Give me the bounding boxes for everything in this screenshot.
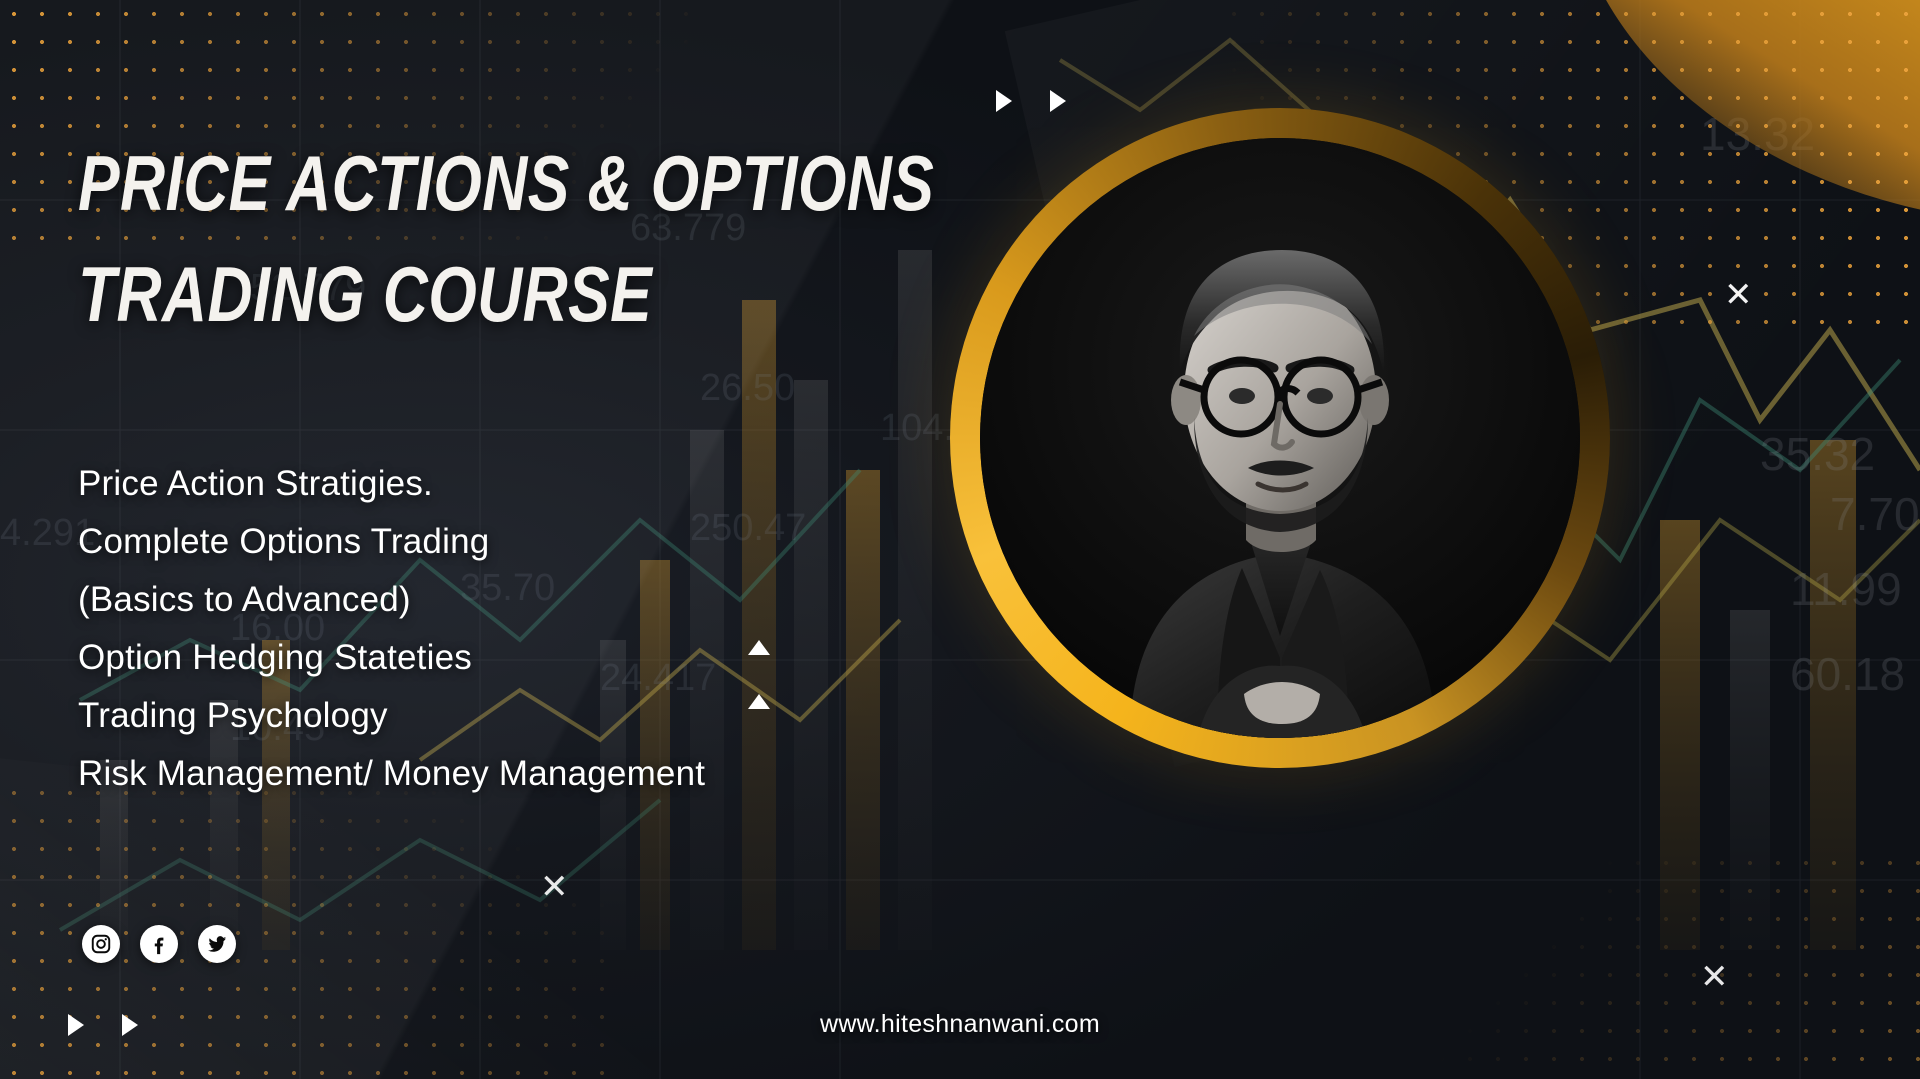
- list-item: Price Action Stratigies.: [78, 455, 978, 513]
- course-feature-list: Price Action Stratigies. Complete Option…: [78, 455, 978, 804]
- page-title: PRICE ACTIONS & OPTIONS TRADING COURSE: [78, 128, 734, 350]
- instagram-icon[interactable]: [82, 925, 120, 963]
- facebook-icon[interactable]: [140, 925, 178, 963]
- instructor-portrait: [950, 108, 1610, 768]
- title-line-1: PRICE ACTIONS & OPTIONS: [78, 128, 734, 239]
- list-item: Option Hedging Stateties: [78, 629, 978, 687]
- portrait-frame: [980, 138, 1580, 738]
- list-item: Trading Psychology: [78, 687, 978, 745]
- twitter-icon[interactable]: [198, 925, 236, 963]
- dot-grid-bottom-right: [1400, 849, 1920, 1079]
- title-line-2: TRADING COURSE: [78, 239, 734, 350]
- portrait-photo: [980, 138, 1580, 738]
- social-links: [82, 925, 236, 963]
- list-item: Complete Options Trading: [78, 513, 978, 571]
- list-item: (Basics to Advanced): [78, 571, 978, 629]
- promo-banner: 63.779 52.779 4.291 250.47 35.70 16.00 1…: [0, 0, 1920, 1079]
- list-item: Risk Management/ Money Management: [78, 745, 978, 803]
- website-url[interactable]: www.hiteshnanwani.com: [0, 1010, 1920, 1039]
